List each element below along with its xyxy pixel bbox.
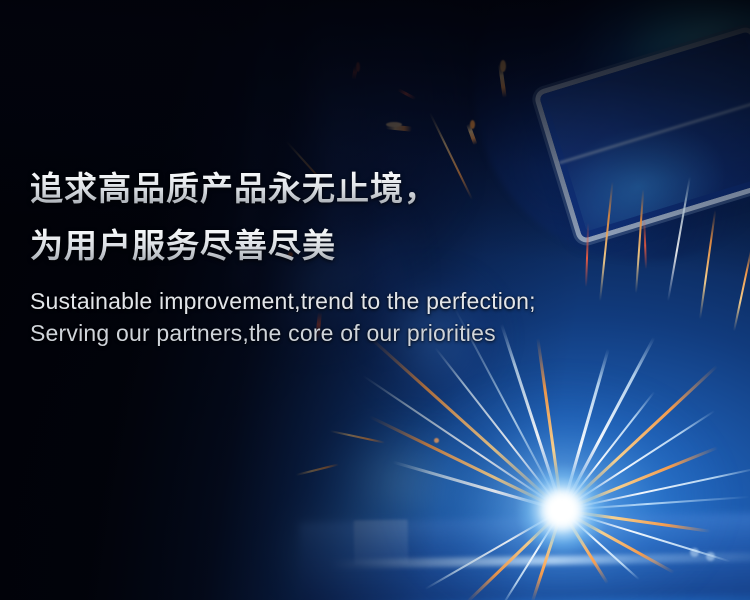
hero-banner: 追求高品质产品永无止境， 为用户服务尽善尽美 Sustainable impro… [0, 0, 750, 600]
subline-line-1: Sustainable improvement,trend to the per… [30, 285, 536, 317]
hero-copy-block: 追求高品质产品永无止境， 为用户服务尽善尽美 Sustainable impro… [30, 160, 536, 349]
headline-line-1: 追求高品质产品永无止境， [30, 160, 536, 217]
subline-line-2: Serving our partners,the core of our pri… [30, 317, 536, 349]
subline-group: Sustainable improvement,trend to the per… [30, 285, 536, 349]
headline-line-2: 为用户服务尽善尽美 [30, 217, 536, 274]
